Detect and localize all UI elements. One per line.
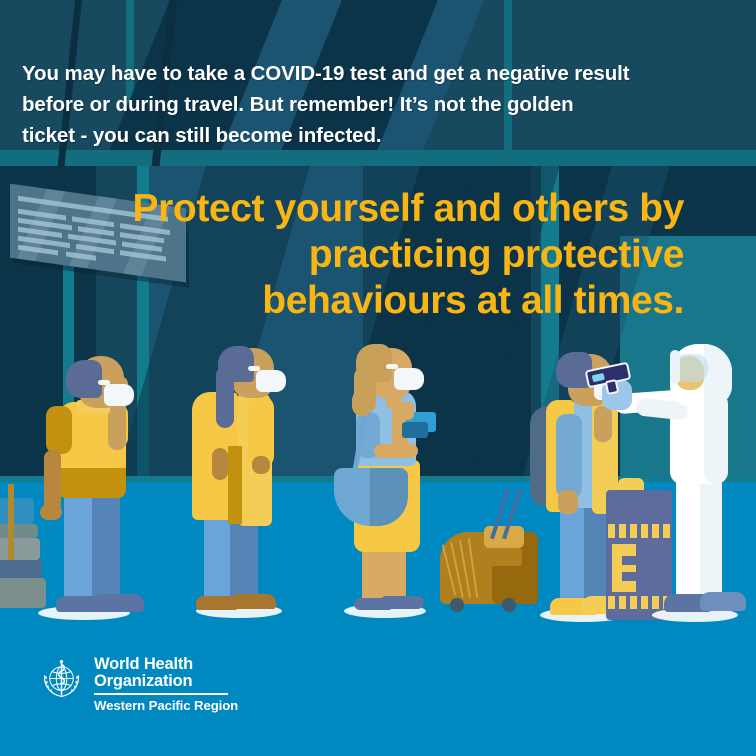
who-logo-text: World Health Organization Western Pacifi… xyxy=(94,656,238,713)
traveller-1 xyxy=(20,358,150,620)
body-text-line-2: before or during travel. But remember! I… xyxy=(22,89,692,120)
who-name-line-1: World Health xyxy=(94,656,238,673)
who-logo: World Health Organization Western Pacifi… xyxy=(38,656,238,713)
headline: Protect yourself and others by practicin… xyxy=(74,186,684,324)
body-text: You may have to take a COVID-19 test and… xyxy=(22,58,692,151)
headline-line-1: Protect yourself and others by xyxy=(74,186,684,232)
ppe-boot xyxy=(700,592,746,611)
health-worker xyxy=(596,352,752,624)
logo-divider xyxy=(94,693,228,695)
who-name-line-2: Organization xyxy=(94,673,238,690)
thermometer-display xyxy=(592,373,605,382)
traveller-2 xyxy=(190,352,310,620)
who-region-label: Western Pacific Region xyxy=(94,698,238,713)
body-text-line-3: ticket - you can still become infected. xyxy=(22,120,692,151)
who-emblem-icon xyxy=(38,656,85,708)
footer-band xyxy=(0,712,756,756)
suitcase-wheel xyxy=(502,598,516,612)
passport xyxy=(402,422,428,438)
body-text-line-1: You may have to take a COVID-19 test and… xyxy=(22,58,692,89)
headline-line-2: practicing protective xyxy=(74,232,684,278)
suitcase-wheel xyxy=(450,598,464,612)
who-covid-travel-poster: You may have to take a COVID-19 test and… xyxy=(0,0,756,756)
headline-line-3: behaviours at all times. xyxy=(74,278,684,324)
